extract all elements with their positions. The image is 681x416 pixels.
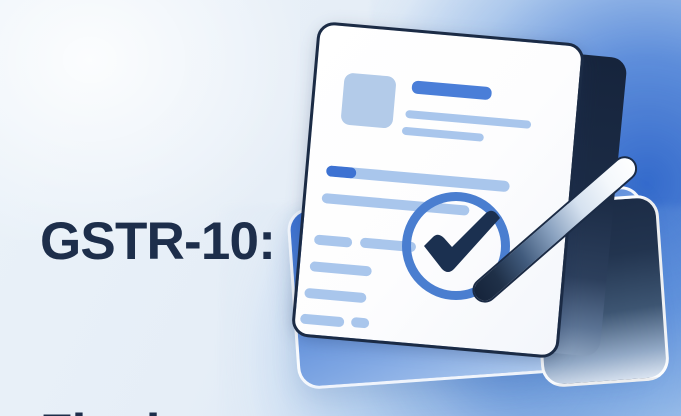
document-progress-row (326, 165, 510, 192)
document-title-bar (411, 80, 492, 100)
document-list-row-1a (314, 234, 353, 247)
document-list-row-3 (304, 288, 367, 303)
document-list-row-4a (300, 314, 345, 328)
page-title: GSTR-10: Final Return (40, 82, 275, 416)
document-header-line-1 (405, 110, 531, 129)
document-list-row-2 (309, 261, 372, 276)
page-title-line-2: Final (40, 402, 275, 416)
final-return-document-illustration (280, 0, 681, 416)
document-list-row-4b (351, 317, 370, 329)
document-logo-block (340, 72, 396, 128)
document-header-line-2 (402, 127, 484, 142)
document-progress-fill (326, 165, 357, 179)
banner-root: GSTR-10: Final Return (0, 0, 681, 416)
white-document-sheet (291, 21, 586, 359)
page-title-line-1: GSTR-10: (40, 210, 275, 274)
